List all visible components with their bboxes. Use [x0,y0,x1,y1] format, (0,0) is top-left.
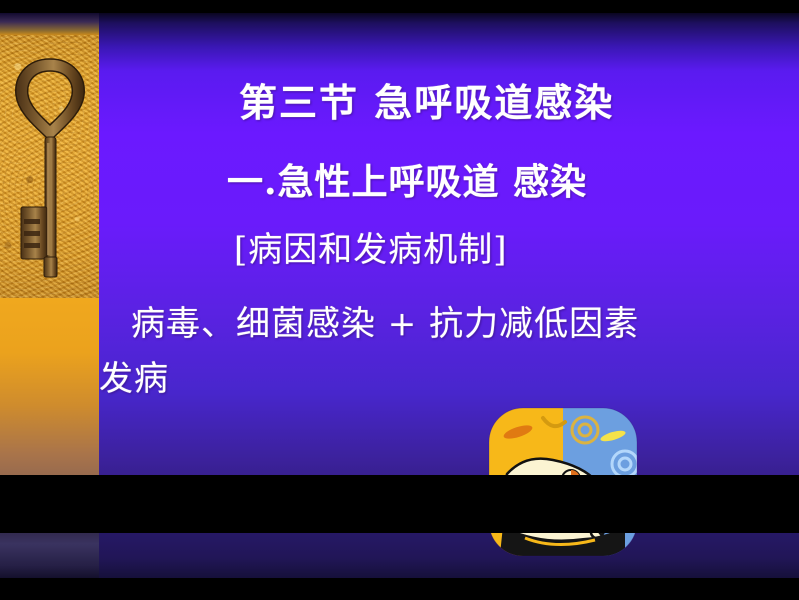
sidebar-top-fade [0,13,99,35]
top-black-band [0,0,799,13]
slide-subtitle: 一.急性上呼吸道 感染 [227,153,587,205]
middle-black-band [0,475,799,533]
bottom-black-band [0,578,799,600]
antique-key-icon [6,51,94,283]
body-line-2: 发病 [99,351,169,400]
section-heading: [病因和发病机制] [234,222,508,271]
presentation-slide: 第三节 急呼吸道感染 一.急性上呼吸道 感染 [病因和发病机制] 病毒、细菌感染… [0,0,799,600]
sidebar-gold-panel [0,298,99,493]
page-title: 第三节 急呼吸道感染 [239,72,614,127]
body-line-1: 病毒、细菌感染 + 抗力减低因素 [131,296,639,345]
